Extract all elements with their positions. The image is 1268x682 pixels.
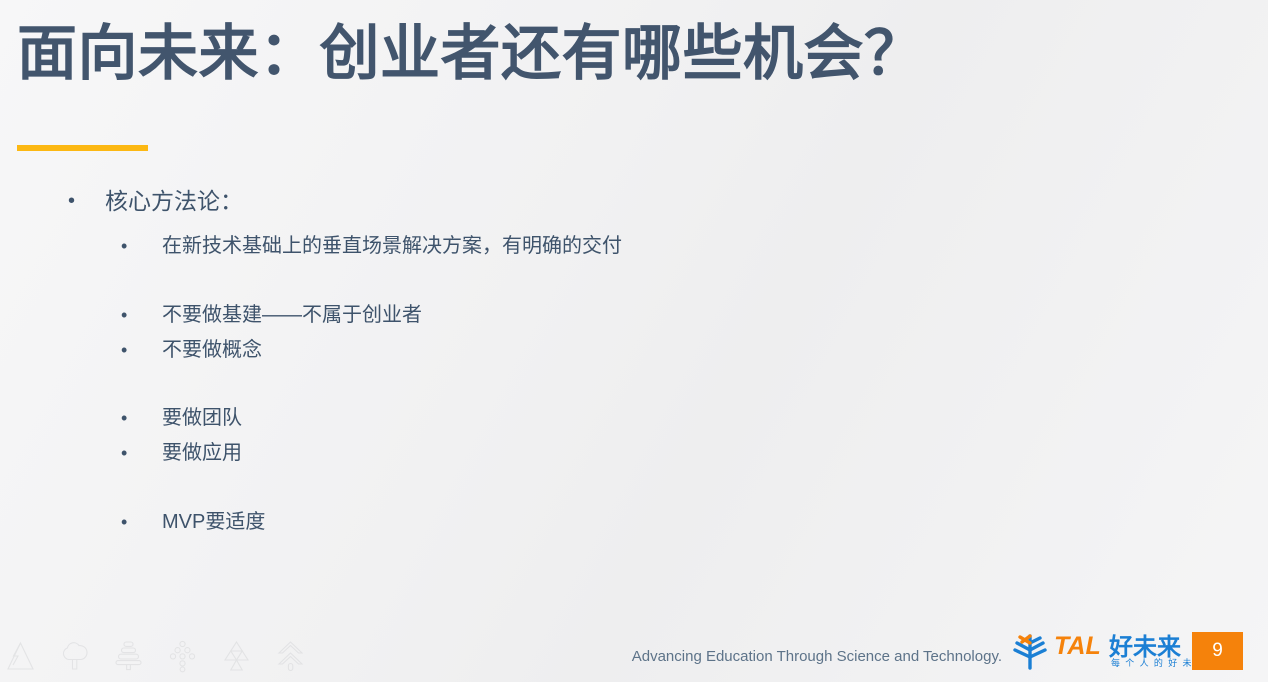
chevron-arrow-tree-icon	[274, 638, 307, 674]
pine-triangle-tree-icon	[4, 638, 37, 674]
dotted-circles-tree-icon	[166, 638, 199, 674]
bullet-level2: • 要做团队	[0, 401, 1100, 436]
bullet-level2-label: 在新技术基础上的垂直场景解决方案，有明确的交付	[162, 235, 622, 257]
tal-tree-mark-icon	[1009, 631, 1051, 671]
bullet-marker-icon: •	[121, 505, 127, 540]
bullet-level2: • 不要做概念	[0, 333, 1100, 368]
page-title: 面向未来：创业者还有哪些机会？	[17, 16, 1167, 92]
slide-body: • 核心方法论： • 在新技术基础上的垂直场景解决方案，有明确的交付 • 不要做…	[0, 186, 1100, 540]
title-accent-rule	[17, 145, 148, 151]
bullet-marker-icon: •	[121, 333, 127, 368]
bullet-level2-label: 要做应用	[162, 442, 242, 464]
spacer	[0, 368, 1100, 401]
bullet-level2-label: MVP要适度	[162, 511, 265, 533]
tal-logo: TAL 好未来 每 个 人 的 好 未 来	[1009, 631, 1200, 671]
bullet-marker-icon: •	[121, 401, 127, 436]
bullet-level2: • 在新技术基础上的垂直场景解决方案，有明确的交付	[0, 229, 1100, 264]
bullet-marker-icon: •	[121, 436, 127, 471]
triangles-cluster-tree-icon	[220, 638, 253, 674]
bullet-marker-icon: •	[121, 298, 127, 333]
cloud-tree-icon	[58, 638, 91, 674]
bullet-level2: • 要做应用	[0, 436, 1100, 471]
bullet-level2: • 不要做基建——不属于创业者	[0, 298, 1100, 333]
tal-sub-tagline: 每 个 人 的 好 未 来	[1111, 657, 1200, 668]
bullet-marker-icon: •	[121, 229, 127, 264]
bullet-level2-label: 不要做基建——不属于创业者	[162, 304, 422, 326]
page-number-badge: 9	[1192, 632, 1243, 670]
footer-tagline: Advancing Education Through Science and …	[632, 648, 1002, 665]
stacked-layers-tree-icon	[112, 638, 145, 674]
tal-chinese-text: 好未来	[1108, 633, 1182, 661]
bullet-level1: • 核心方法论：	[0, 186, 1100, 217]
bullet-marker-icon: •	[68, 186, 75, 217]
bullet-level2-label: 要做团队	[162, 407, 242, 429]
tal-wordmark: TAL 好未来 每 个 人 的 好 未 来	[1054, 629, 1200, 674]
tal-latin-text: TAL	[1054, 632, 1101, 660]
slide-canvas: 面向未来：创业者还有哪些机会？ • 核心方法论： • 在新技术基础上的垂直场景解…	[0, 0, 1268, 682]
decorative-tree-row	[4, 638, 307, 674]
spacer	[0, 264, 1100, 298]
bullet-level2-label: 不要做概念	[162, 339, 262, 361]
bullet-level1-label: 核心方法论：	[105, 188, 243, 214]
spacer	[0, 471, 1100, 505]
bullet-level2: • MVP要适度	[0, 505, 1100, 540]
